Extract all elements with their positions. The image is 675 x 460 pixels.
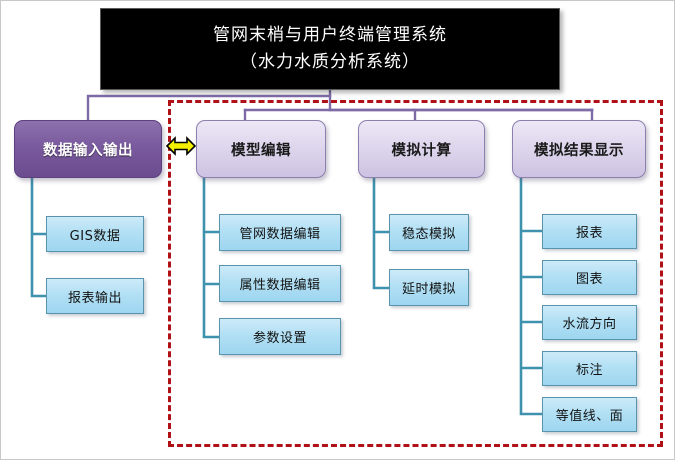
leaf-steady-state-simulation[interactable]: 稳态模拟 <box>389 214 469 251</box>
node-simulation-label: 模拟计算 <box>392 139 452 160</box>
leaf-flow-direction-label: 水流方向 <box>562 313 616 332</box>
node-simulation[interactable]: 模拟计算 <box>358 120 485 178</box>
tree-data-io <box>32 178 46 296</box>
leaf-steady-state-simulation-label: 稳态模拟 <box>402 223 456 242</box>
leaf-chart[interactable]: 图表 <box>542 260 637 295</box>
leaf-attribute-data-edit-label: 属性数据编辑 <box>239 274 320 293</box>
leaf-gis-data[interactable]: GIS数据 <box>46 216 144 252</box>
leaf-report-label: 报表 <box>576 222 603 241</box>
leaf-extended-period-simulation-label: 延时模拟 <box>402 278 456 297</box>
system-title-line-1: 管网末梢与用户终端管理系统 <box>213 22 447 49</box>
leaf-report[interactable]: 报表 <box>542 214 637 249</box>
diagram-canvas: 管网末梢与用户终端管理系统 （水力水质分析系统） 数据输入输出 模型编辑 模拟计… <box>0 0 675 460</box>
leaf-gis-data-label: GIS数据 <box>70 225 121 244</box>
leaf-attribute-data-edit[interactable]: 属性数据编辑 <box>219 265 341 302</box>
leaf-flow-direction[interactable]: 水流方向 <box>542 305 637 340</box>
node-model-edit-label: 模型编辑 <box>231 139 291 160</box>
system-title-box: 管网末梢与用户终端管理系统 （水力水质分析系统） <box>100 8 560 90</box>
node-model-edit[interactable]: 模型编辑 <box>196 120 326 178</box>
leaf-report-output[interactable]: 报表输出 <box>46 278 144 314</box>
leaf-contour-line-surface[interactable]: 等值线、面 <box>542 397 637 432</box>
leaf-contour-line-surface-label: 等值线、面 <box>556 405 624 424</box>
node-data-io[interactable]: 数据输入输出 <box>14 120 162 178</box>
leaf-pipe-network-data-edit[interactable]: 管网数据编辑 <box>219 214 341 251</box>
bidirectional-arrow-icon <box>166 134 196 158</box>
system-title-line-2: （水力水质分析系统） <box>240 49 420 76</box>
node-result-display[interactable]: 模拟结果显示 <box>512 120 646 178</box>
leaf-annotation-label: 标注 <box>576 359 603 378</box>
leaf-parameter-settings[interactable]: 参数设置 <box>219 318 341 355</box>
leaf-annotation[interactable]: 标注 <box>542 351 637 386</box>
leaf-parameter-settings-label: 参数设置 <box>253 327 307 346</box>
leaf-extended-period-simulation[interactable]: 延时模拟 <box>389 269 469 306</box>
node-data-io-label: 数据输入输出 <box>43 139 133 160</box>
node-result-display-label: 模拟结果显示 <box>534 139 624 160</box>
leaf-report-output-label: 报表输出 <box>68 287 122 306</box>
leaf-chart-label: 图表 <box>576 268 603 287</box>
leaf-pipe-network-data-edit-label: 管网数据编辑 <box>239 223 320 242</box>
